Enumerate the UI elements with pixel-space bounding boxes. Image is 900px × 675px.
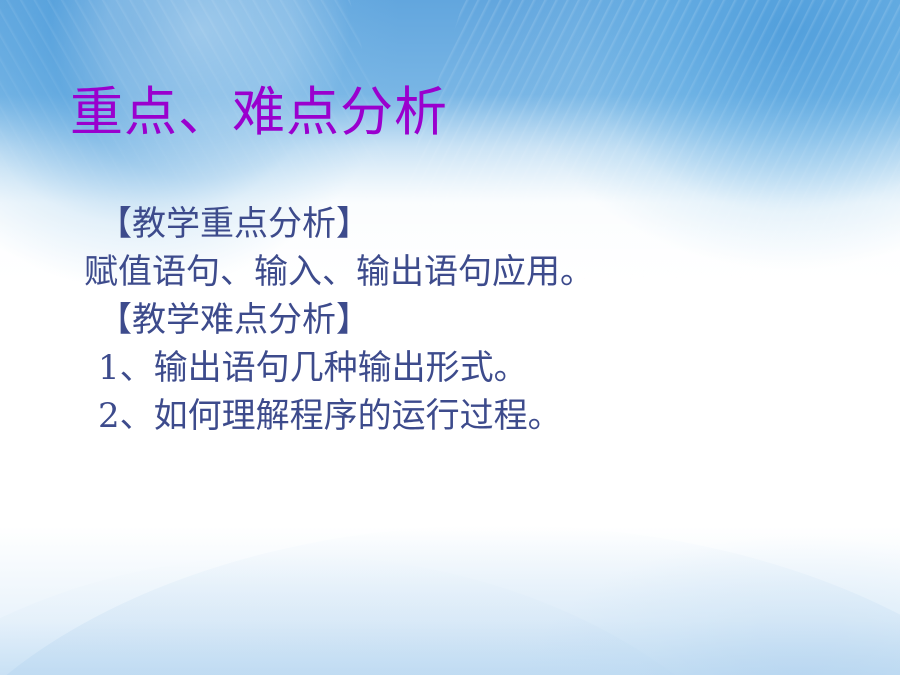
body-line-teaching-focus-heading: 【教学重点分析】: [84, 200, 814, 248]
slide-body-text: 【教学重点分析】 赋值语句、输入、输出语句应用。 【教学难点分析】 1、输出语句…: [84, 200, 814, 440]
body-line-difficulty-item-2: 2、如何理解程序的运行过程。: [84, 392, 814, 440]
slide-content: 重点、难点分析 【教学重点分析】 赋值语句、输入、输出语句应用。 【教学难点分析…: [0, 0, 900, 675]
body-line-difficulty-item-1: 1、输出语句几种输出形式。: [84, 344, 814, 392]
body-line-teaching-focus-detail: 赋值语句、输入、输出语句应用。: [84, 248, 814, 296]
presentation-slide: 重点、难点分析 【教学重点分析】 赋值语句、输入、输出语句应用。 【教学难点分析…: [0, 0, 900, 675]
slide-title: 重点、难点分析: [70, 84, 448, 141]
body-line-teaching-difficulty-heading: 【教学难点分析】: [84, 296, 814, 344]
